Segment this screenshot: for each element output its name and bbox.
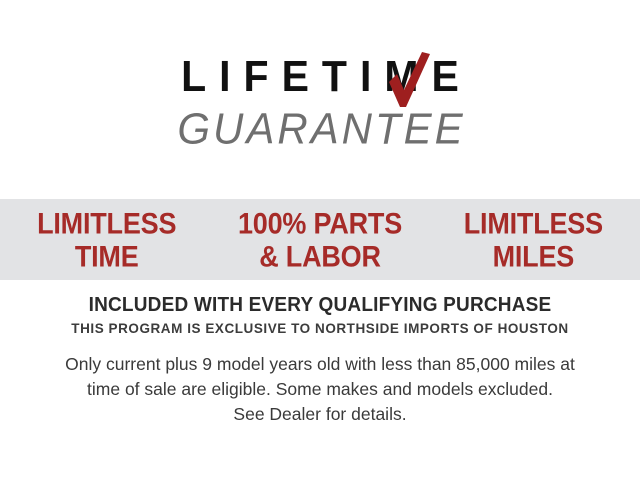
- logo-primary-wrap: LIFETIME: [0, 52, 640, 98]
- lifetime-guarantee-ad: LIFETIME GUARANTEE LIMITLESS TIME 100% P…: [0, 0, 640, 480]
- logo-block: LIFETIME GUARANTEE: [0, 52, 640, 162]
- feature-parts-line1: 100% PARTS: [238, 207, 402, 240]
- fineprint-line-2: time of sale are eligible. Some makes an…: [30, 377, 610, 402]
- feature-time-line2: TIME: [0, 240, 213, 273]
- logo-guarantee-text: GUARANTEE: [174, 104, 465, 154]
- feature-parts-line2: & LABOR: [213, 240, 426, 273]
- feature-column-miles: LIMITLESS MILES: [427, 207, 640, 273]
- headline: INCLUDED WITH EVERY QUALIFYING PURCHASE: [0, 293, 640, 318]
- fineprint-line-3: See Dealer for details.: [30, 402, 610, 427]
- feature-column-parts-labor: 100% PARTS & LABOR: [213, 207, 426, 273]
- logo-lifetime-text: LIFETIME: [168, 52, 472, 101]
- feature-band: LIMITLESS TIME 100% PARTS & LABOR LIMITL…: [0, 199, 640, 280]
- feature-column-time: LIMITLESS TIME: [0, 207, 213, 273]
- feature-miles-line2: MILES: [427, 240, 640, 273]
- feature-time-line1: LIMITLESS: [37, 207, 176, 240]
- feature-miles-line1: LIMITLESS: [464, 207, 603, 240]
- subheadline: THIS PROGRAM IS EXCLUSIVE TO NORTHSIDE I…: [0, 319, 640, 339]
- logo-secondary-wrap: GUARANTEE: [0, 104, 640, 152]
- copy-block: INCLUDED WITH EVERY QUALIFYING PURCHASE …: [0, 294, 640, 427]
- fineprint-line-1: Only current plus 9 model years old with…: [30, 352, 610, 377]
- fineprint: Only current plus 9 model years old with…: [30, 352, 610, 427]
